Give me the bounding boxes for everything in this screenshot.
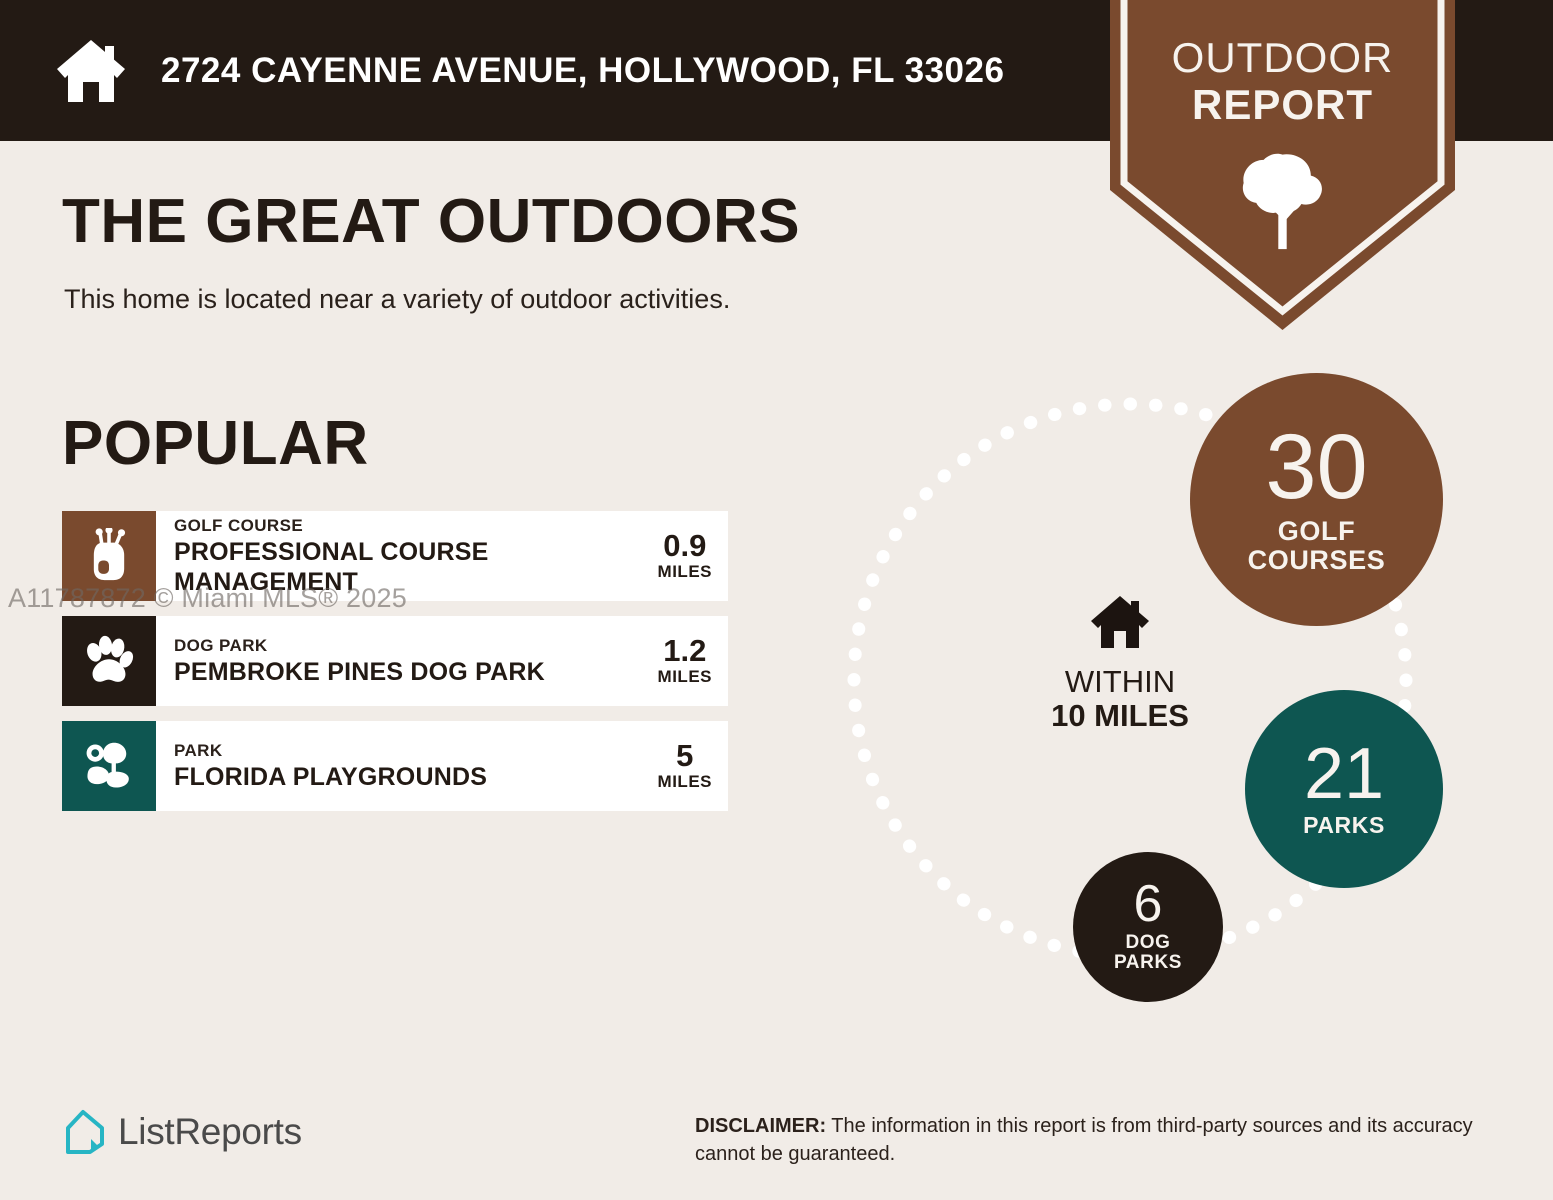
disclaimer-label: DISCLAIMER: xyxy=(695,1115,826,1137)
stat-label: DOG PARKS xyxy=(1114,933,1182,974)
popular-list: GOLF COURSE PROFESSIONAL COURSE MANAGEME… xyxy=(62,511,728,826)
list-item-distance-unit: MILES xyxy=(658,562,712,582)
stat-label-line-1: GOLF xyxy=(1278,516,1355,546)
listreports-logo[interactable]: ListReports xyxy=(60,1108,302,1156)
home-icon xyxy=(1020,594,1220,655)
radius-label-line-1: WITHIN xyxy=(1020,665,1220,699)
list-item-distance: 0.9 MILES xyxy=(648,530,712,583)
mls-watermark: A11787872 © Miami MLS® 2025 xyxy=(8,583,407,614)
stat-value: 6 xyxy=(1134,880,1163,929)
listreports-house-icon xyxy=(60,1108,106,1156)
disclaimer: DISCLAIMER: The information in this repo… xyxy=(695,1112,1495,1169)
list-item-distance-unit: MILES xyxy=(658,667,712,687)
home-icon xyxy=(55,38,127,104)
list-item-name: PEMBROKE PINES DOG PARK xyxy=(174,657,648,687)
stat-parks: 21 PARKS xyxy=(1245,690,1443,888)
list-item[interactable]: DOG PARK PEMBROKE PINES DOG PARK 1.2 MIL… xyxy=(62,616,728,706)
list-item[interactable]: PARK FLORIDA PLAYGROUNDS 5 MILES xyxy=(62,721,728,811)
within-radius-diagram: WITHIN 10 MILES 30 GOLF COURSES 21 PARKS… xyxy=(790,340,1510,1040)
stat-label-line-1: DOG xyxy=(1125,932,1170,953)
radius-label-line-2: 10 MILES xyxy=(1020,699,1220,733)
stat-label: GOLF COURSES xyxy=(1248,517,1386,575)
list-item-distance: 5 MILES xyxy=(648,740,712,793)
stat-golf-courses: 30 GOLF COURSES xyxy=(1190,373,1443,626)
list-item-distance-unit: MILES xyxy=(658,772,712,792)
list-item-distance: 1.2 MILES xyxy=(648,635,712,688)
stat-value: 30 xyxy=(1265,424,1367,511)
list-item-category: GOLF COURSE xyxy=(174,515,648,536)
radius-center-label: WITHIN 10 MILES xyxy=(1020,594,1220,733)
list-item-category: DOG PARK xyxy=(174,635,648,656)
list-item-distance-value: 1.2 xyxy=(658,635,712,668)
badge-text: OUTDOOR REPORT xyxy=(1110,34,1455,128)
badge-line-1: OUTDOOR xyxy=(1172,34,1394,81)
popular-heading: POPULAR xyxy=(62,408,369,479)
stat-label-line-2: COURSES xyxy=(1248,545,1386,575)
page-title: THE GREAT OUTDOORS xyxy=(62,186,800,257)
list-item-category: PARK xyxy=(174,740,648,761)
stat-label-line-2: PARKS xyxy=(1114,952,1182,973)
park-trees-icon xyxy=(62,721,156,811)
outdoor-report-badge: OUTDOOR REPORT xyxy=(1110,0,1455,330)
property-address: 2724 CAYENNE AVENUE, HOLLYWOOD, FL 33026 xyxy=(161,51,1004,91)
outdoor-report-page: 2724 CAYENNE AVENUE, HOLLYWOOD, FL 33026… xyxy=(0,0,1553,1200)
paw-icon xyxy=(62,616,156,706)
list-item-name: FLORIDA PLAYGROUNDS xyxy=(174,762,648,792)
list-item-distance-value: 0.9 xyxy=(658,530,712,563)
page-subtitle: This home is located near a variety of o… xyxy=(64,284,730,315)
list-item-distance-value: 5 xyxy=(658,740,712,773)
stat-value: 21 xyxy=(1304,740,1384,808)
badge-line-2: REPORT xyxy=(1110,81,1455,128)
stat-label: PARKS xyxy=(1303,813,1385,838)
stat-dog-parks: 6 DOG PARKS xyxy=(1073,852,1223,1002)
listreports-wordmark: ListReports xyxy=(118,1111,302,1153)
